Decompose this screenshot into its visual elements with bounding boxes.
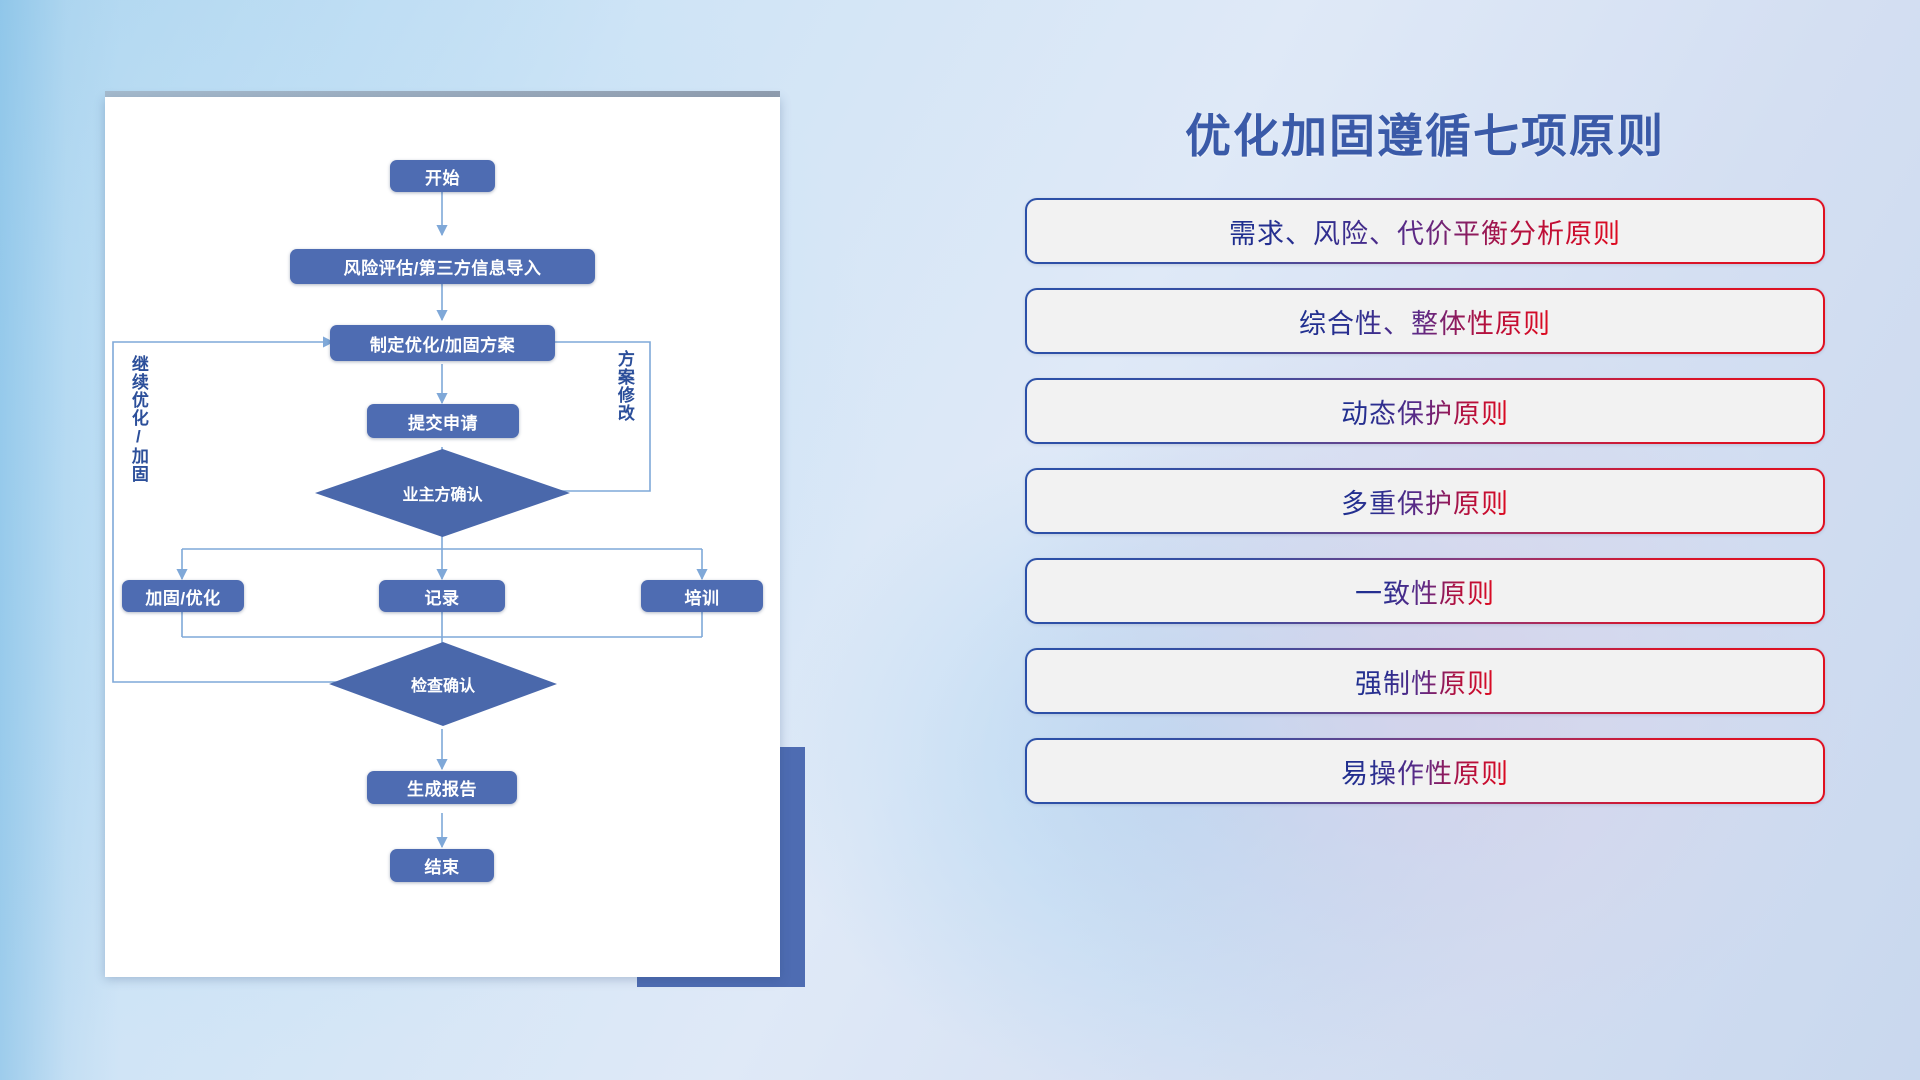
flow-node-submit-application[interactable]: 提交申请 xyxy=(367,404,519,438)
principle-label: 需求、风险、代价平衡分析原则 xyxy=(1229,212,1621,251)
principle-card-3[interactable]: 动态保护原则 xyxy=(1025,378,1825,444)
flow-node-label: 记录 xyxy=(425,584,460,609)
principle-label: 综合性、整体性原则 xyxy=(1299,302,1551,341)
flow-node-label: 培训 xyxy=(685,584,720,609)
principle-label: 易操作性原则 xyxy=(1341,752,1509,791)
flow-node-label: 风险评估/第三方信息导入 xyxy=(344,254,542,279)
principle-card-5[interactable]: 一致性原则 xyxy=(1025,558,1825,624)
flow-node-label: 业主方确认 xyxy=(402,481,482,505)
flow-node-start[interactable]: 开始 xyxy=(390,160,495,192)
principle-label: 强制性原则 xyxy=(1355,662,1495,701)
principle-label: 动态保护原则 xyxy=(1341,392,1509,431)
flow-node-check-confirm[interactable]: 检查确认 xyxy=(329,642,557,726)
principles-panel: 优化加固遵循七项原则 需求、风险、代价平衡分析原则 综合性、整体性原则 动态保护… xyxy=(1020,80,1830,1020)
flow-node-label: 加固/优化 xyxy=(145,584,220,609)
principle-card-2[interactable]: 综合性、整体性原则 xyxy=(1025,288,1825,354)
flowchart-connectors xyxy=(105,97,780,977)
flowchart-canvas: 开始 风险评估/第三方信息导入 制定优化/加固方案 提交申请 业主方确认 加固/… xyxy=(105,97,780,977)
principles-list: 需求、风险、代价平衡分析原则 综合性、整体性原则 动态保护原则 多重保护原则 一… xyxy=(1025,198,1825,828)
flow-node-label: 制定优化/加固方案 xyxy=(370,331,515,356)
principle-card-4[interactable]: 多重保护原则 xyxy=(1025,468,1825,534)
flow-node-end[interactable]: 结束 xyxy=(390,849,494,882)
flow-node-label: 生成报告 xyxy=(407,775,477,800)
edge-label-right-loop: 方案修改 xyxy=(615,350,633,422)
flow-node-record[interactable]: 记录 xyxy=(379,580,505,612)
flow-node-training[interactable]: 培训 xyxy=(641,580,763,612)
flow-node-label: 开始 xyxy=(425,164,460,189)
slide-canvas: 开始 风险评估/第三方信息导入 制定优化/加固方案 提交申请 业主方确认 加固/… xyxy=(0,0,1920,1080)
flow-node-risk-assessment[interactable]: 风险评估/第三方信息导入 xyxy=(290,249,595,284)
flow-node-label: 检查确认 xyxy=(411,672,475,696)
edge-label-left-loop: 继续优化/加固 xyxy=(129,355,147,483)
principle-card-7[interactable]: 易操作性原则 xyxy=(1025,738,1825,804)
principle-card-1[interactable]: 需求、风险、代价平衡分析原则 xyxy=(1025,198,1825,264)
flow-node-owner-confirm[interactable]: 业主方确认 xyxy=(315,449,570,537)
principle-label: 一致性原则 xyxy=(1355,572,1495,611)
page-title: 优化加固遵循七项原则 xyxy=(1020,100,1830,166)
principle-card-6[interactable]: 强制性原则 xyxy=(1025,648,1825,714)
flow-node-label: 结束 xyxy=(425,853,460,878)
flow-node-plan[interactable]: 制定优化/加固方案 xyxy=(330,325,555,361)
principle-label: 多重保护原则 xyxy=(1341,482,1509,521)
flow-node-reinforce[interactable]: 加固/优化 xyxy=(122,580,244,612)
flowchart-card: 开始 风险评估/第三方信息导入 制定优化/加固方案 提交申请 业主方确认 加固/… xyxy=(105,97,780,977)
flow-node-generate-report[interactable]: 生成报告 xyxy=(367,771,517,804)
flow-node-label: 提交申请 xyxy=(408,409,478,434)
